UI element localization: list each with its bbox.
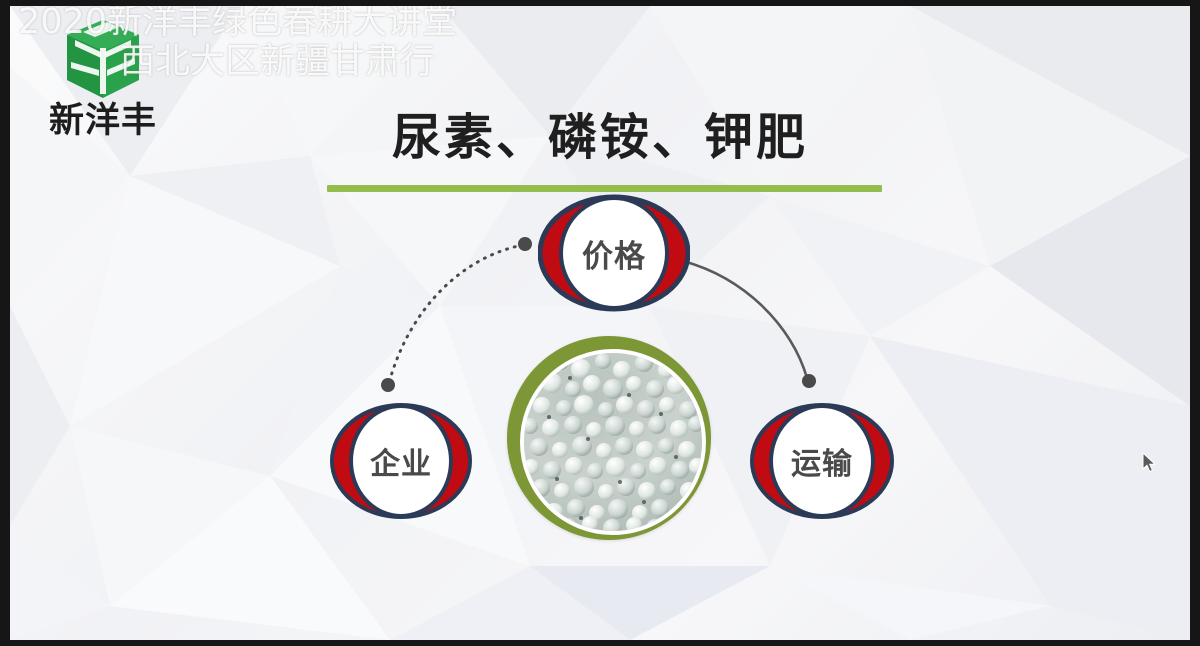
concept-diagram: 价格 企业 运输 — [10, 6, 1190, 640]
presentation-slide: 尿素、磷铵、钾肥 新洋丰 — [10, 6, 1190, 640]
frame-edge-top — [0, 0, 1200, 6]
connector-price-to-transport — [675, 252, 816, 388]
diagram-node-transport[interactable]: 运输 — [750, 402, 894, 520]
center-photo-inner-ring — [520, 349, 706, 535]
brand-wordmark: 新洋丰 — [28, 104, 178, 139]
fertilizer-granules-image — [524, 353, 702, 531]
xinyangfeng-cube-logo-icon — [61, 18, 145, 100]
diagram-node-company[interactable]: 企业 — [330, 402, 472, 520]
center-product-photo — [507, 336, 711, 540]
connector-price-to-company — [381, 237, 532, 392]
frame-edge-left — [0, 0, 10, 646]
brand-logo: 新洋丰 — [28, 18, 178, 139]
video-player-frame: 尿素、磷铵、钾肥 新洋丰 — [0, 0, 1200, 646]
mouse-pointer-icon — [1142, 452, 1158, 474]
diagram-connectors — [10, 6, 1190, 640]
diagram-node-price[interactable]: 价格 — [538, 194, 690, 312]
frame-edge-right — [1190, 0, 1200, 646]
frame-edge-bottom — [0, 640, 1200, 646]
